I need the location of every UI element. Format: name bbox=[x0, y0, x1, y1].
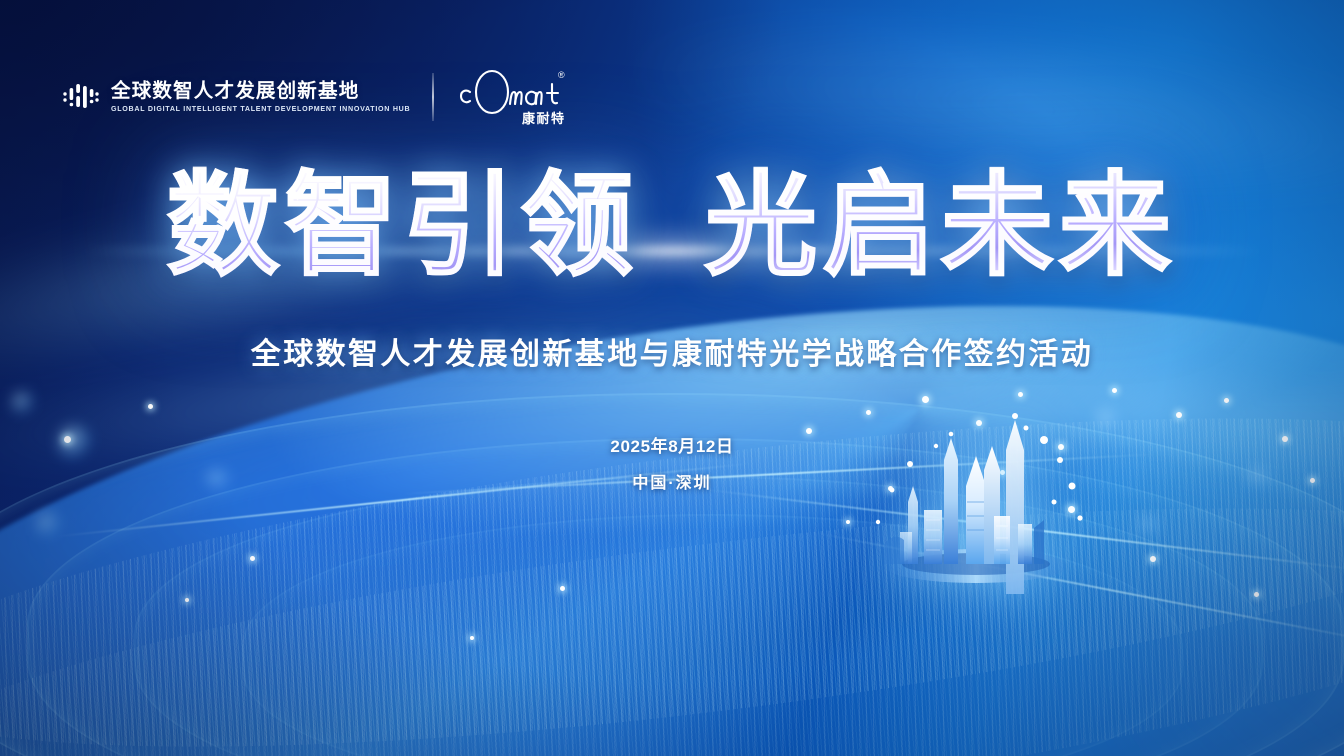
header-logo-lockup: 全球数智人才发展创新基地 GLOBAL DIGITAL INTELLIGENT … bbox=[62, 66, 582, 128]
city-skyline-illustration bbox=[848, 398, 1098, 598]
main-title-part1: 数智引领 bbox=[167, 163, 639, 288]
main-title: 数智引领光启未来 bbox=[167, 168, 1177, 284]
hub-name-cn: 全球数智人才发展创新基地 bbox=[111, 81, 410, 103]
poster-canvas: 全球数智人才发展创新基地 GLOBAL DIGITAL INTELLIGENT … bbox=[0, 0, 1344, 756]
dot-matrix-logo-icon bbox=[62, 80, 100, 114]
hero-title-block: 数智引领光启未来 bbox=[0, 168, 1344, 284]
conant-wordmark-icon: ® 康耐特 bbox=[456, 66, 574, 128]
hub-name-en: GLOBAL DIGITAL INTELLIGENT TALENT DEVELO… bbox=[111, 105, 410, 113]
hero-subtitle: 全球数智人才发展创新基地与康耐特光学战略合作签约活动 bbox=[0, 329, 1344, 373]
trademark-symbol: ® bbox=[558, 70, 565, 80]
hub-logo[interactable]: 全球数智人才发展创新基地 GLOBAL DIGITAL INTELLIGENT … bbox=[62, 80, 410, 114]
logo-divider bbox=[432, 73, 434, 121]
main-title-part2: 光启未来 bbox=[705, 163, 1177, 288]
event-meta-block: 2025年8月12日 中国·深圳 bbox=[0, 432, 1344, 493]
event-date: 2025年8月12日 bbox=[0, 432, 1344, 457]
partner-logo-conant[interactable]: ® 康耐特 bbox=[456, 66, 582, 128]
event-location: 中国·深圳 bbox=[0, 469, 1344, 493]
partner-name-cn: 康耐特 bbox=[522, 111, 566, 126]
